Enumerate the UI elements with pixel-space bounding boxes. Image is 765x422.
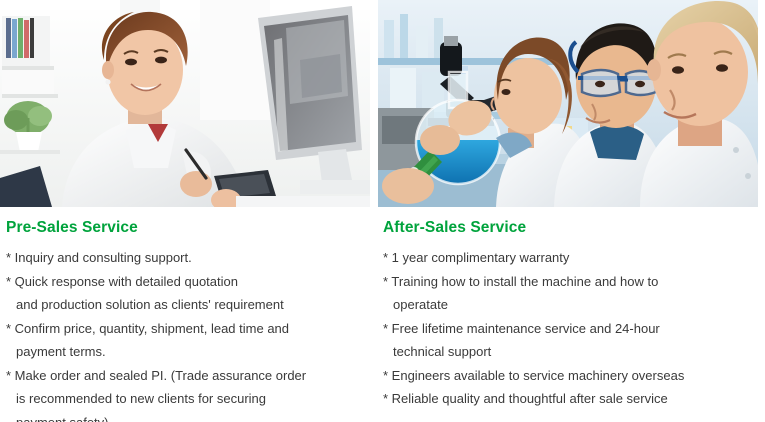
list-item: payment safety) bbox=[6, 411, 376, 422]
after-sales-photo bbox=[378, 0, 758, 207]
list-item: * 1 year complimentary warranty bbox=[383, 246, 753, 270]
list-item: and production solution as clients' requ… bbox=[6, 293, 376, 317]
list-item: * Engineers available to service machine… bbox=[383, 364, 753, 388]
after-sales-column: After-Sales Service * 1 year complimenta… bbox=[381, 207, 753, 411]
pre-sales-photo bbox=[0, 0, 370, 207]
list-item: operatate bbox=[383, 293, 753, 317]
banner-images bbox=[0, 0, 765, 207]
list-item: * Reliable quality and thoughtful after … bbox=[383, 387, 753, 411]
after-sales-title: After-Sales Service bbox=[381, 207, 753, 238]
list-item: * Quick response with detailed quotation bbox=[6, 270, 376, 294]
pre-sales-list: * Inquiry and consulting support. * Quic… bbox=[4, 238, 376, 422]
after-sales-photo-illustration bbox=[378, 0, 758, 207]
service-columns: Pre-Sales Service * Inquiry and consulti… bbox=[0, 207, 765, 422]
pre-sales-title: Pre-Sales Service bbox=[4, 207, 376, 238]
list-item: * Confirm price, quantity, shipment, lea… bbox=[6, 317, 376, 341]
list-item: technical support bbox=[383, 340, 753, 364]
pre-sales-column: Pre-Sales Service * Inquiry and consulti… bbox=[4, 207, 376, 422]
after-sales-list: * 1 year complimentary warranty * Traini… bbox=[381, 238, 753, 411]
list-item: is recommended to new clients for securi… bbox=[6, 387, 376, 411]
list-item: * Training how to install the machine an… bbox=[383, 270, 753, 294]
list-item: payment terms. bbox=[6, 340, 376, 364]
list-item: * Free lifetime maintenance service and … bbox=[383, 317, 753, 341]
list-item: * Make order and sealed PI. (Trade assur… bbox=[6, 364, 376, 388]
service-info-page: Pre-Sales Service * Inquiry and consulti… bbox=[0, 0, 765, 422]
pre-sales-photo-illustration bbox=[0, 0, 370, 207]
list-item: * Inquiry and consulting support. bbox=[6, 246, 376, 270]
